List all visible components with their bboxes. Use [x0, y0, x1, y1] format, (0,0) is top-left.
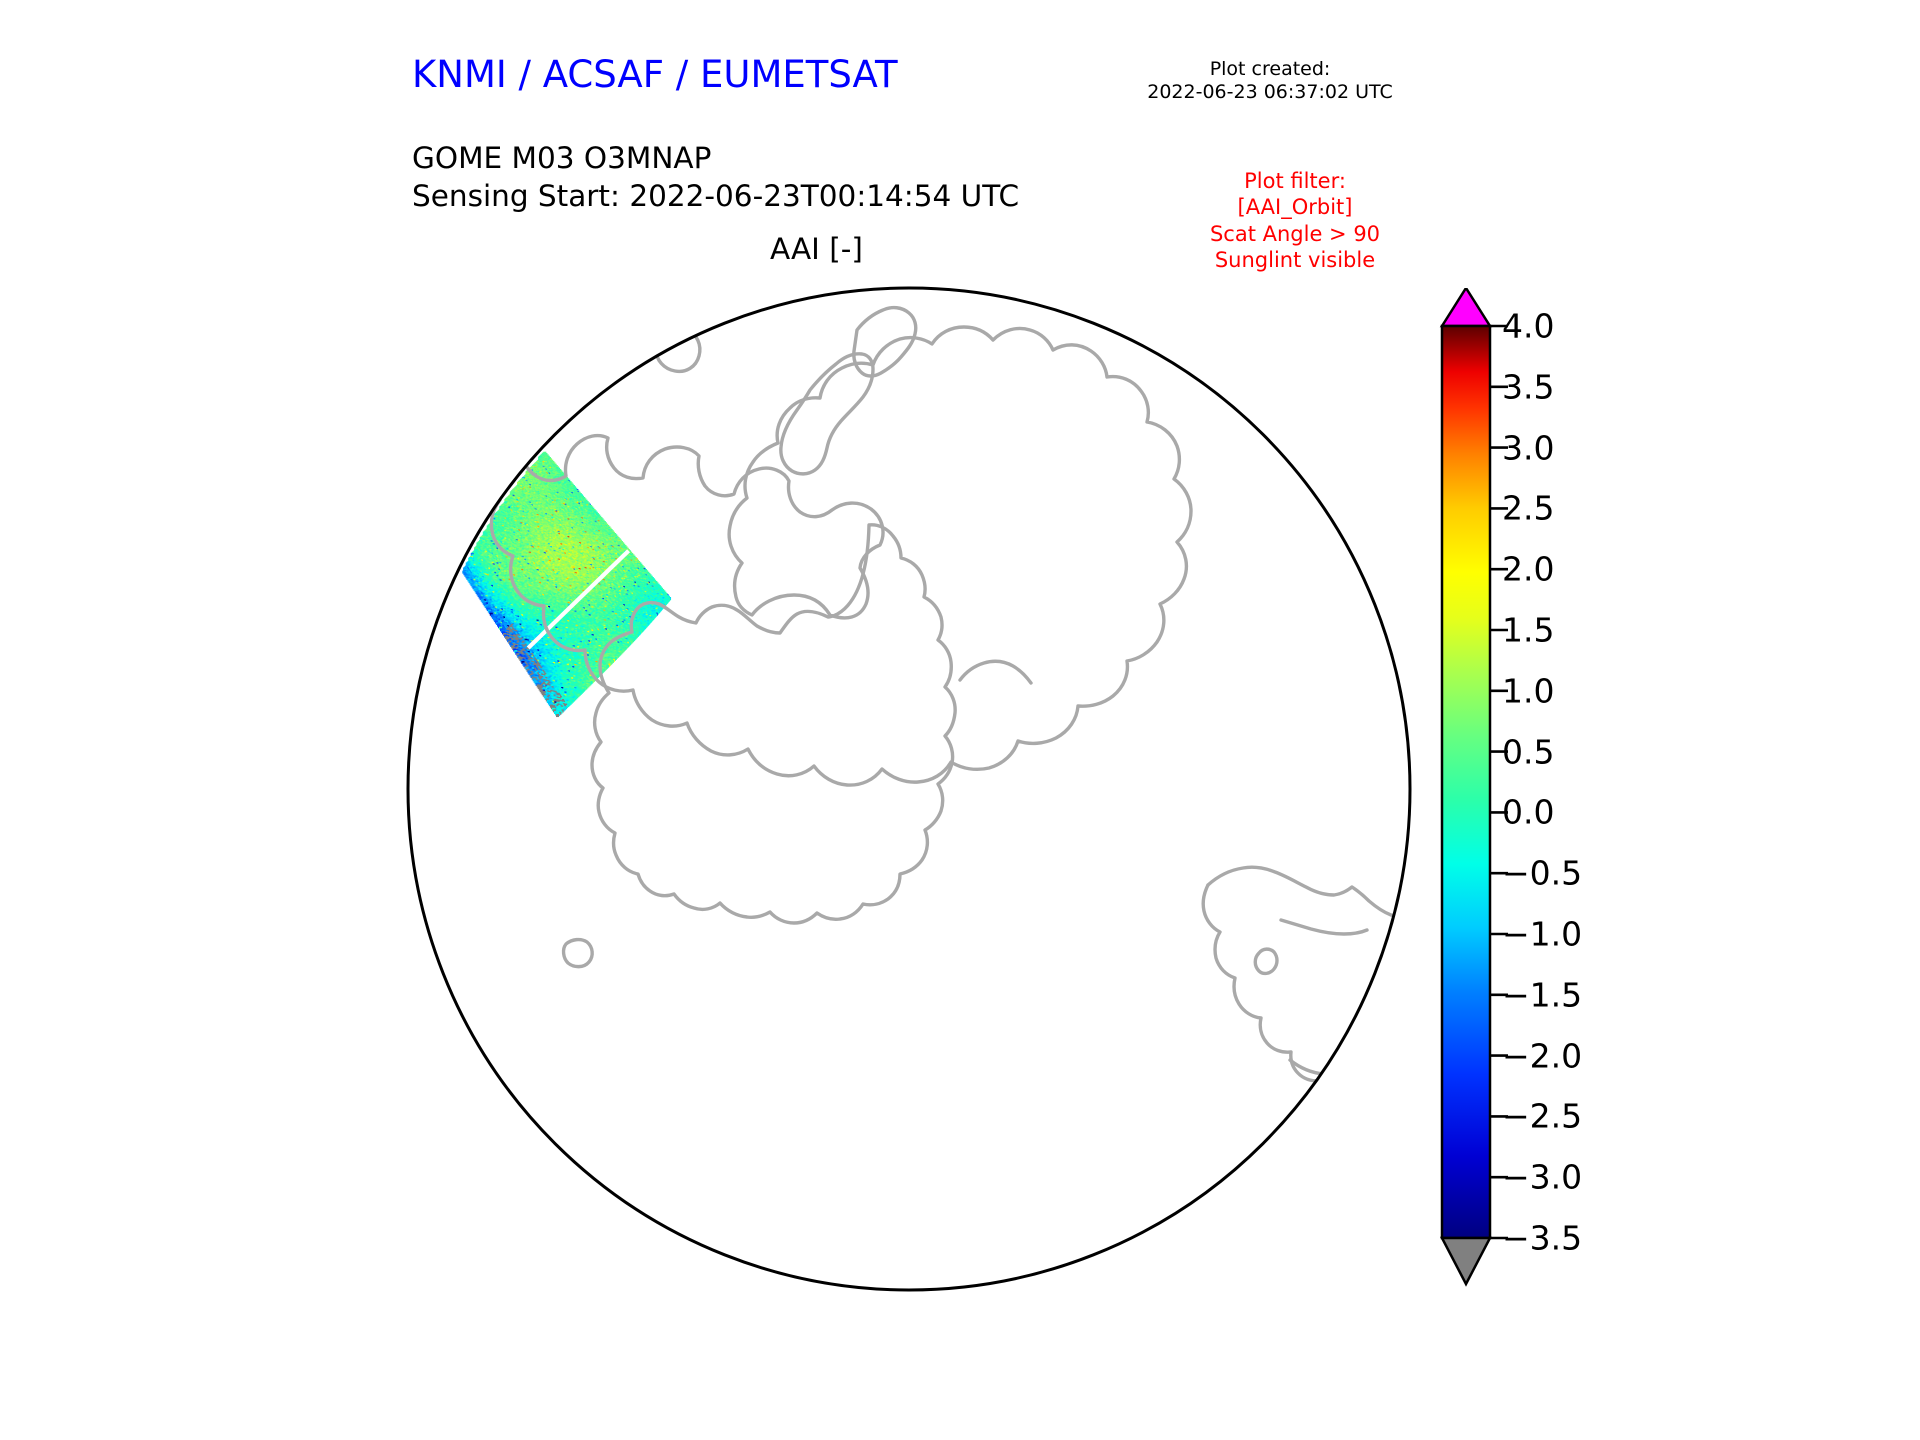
colorbar[interactable]: 4.03.53.02.52.01.51.00.50.0−0.5−1.0−1.5−…	[1432, 288, 1642, 1298]
coastline-island-tasmania-tip	[650, 295, 678, 321]
colorbar-gradient-bar	[1442, 326, 1490, 1238]
globe-disc	[408, 288, 1410, 1290]
colorbar-tick-label-0: 4.0	[1502, 307, 1554, 346]
colorbar-tick-label-6: 1.0	[1502, 671, 1554, 710]
colorbar-tick-label-3: 2.5	[1502, 489, 1554, 528]
colorbar-tick-label-11: −1.5	[1502, 975, 1582, 1014]
colorbar-tick-label-7: 0.5	[1502, 732, 1554, 771]
colorbar-tick-label-13: −2.5	[1502, 1097, 1582, 1136]
colorbar-tick-label-14: −3.0	[1502, 1158, 1582, 1197]
coastline-island-falklands	[1378, 957, 1411, 989]
colorbar-tick-label-2: 3.0	[1502, 428, 1554, 467]
colorbar-tick-label-4: 2.0	[1502, 550, 1554, 589]
figure-canvas: KNMI / ACSAF / EUMETSAT Plot created: 20…	[0, 0, 1920, 1440]
colorbar-tick-label-9: −0.5	[1502, 854, 1582, 893]
colorbar-tick-label-15: −3.5	[1502, 1219, 1582, 1258]
colorbar-tick-label-12: −2.0	[1502, 1036, 1582, 1075]
colorbar-under-arrow	[1442, 1238, 1490, 1284]
colorbar-tick-label-8: 0.0	[1502, 793, 1554, 832]
colorbar-tick-label-10: −1.0	[1502, 915, 1582, 954]
colorbar-over-arrow	[1442, 288, 1490, 326]
colorbar-tick-label-5: 1.5	[1502, 611, 1554, 650]
colorbar-tick-label-1: 3.5	[1502, 367, 1554, 406]
colorbar-tick-labels: 4.03.53.02.52.01.51.00.50.0−0.5−1.0−1.5−…	[1502, 288, 1642, 1298]
